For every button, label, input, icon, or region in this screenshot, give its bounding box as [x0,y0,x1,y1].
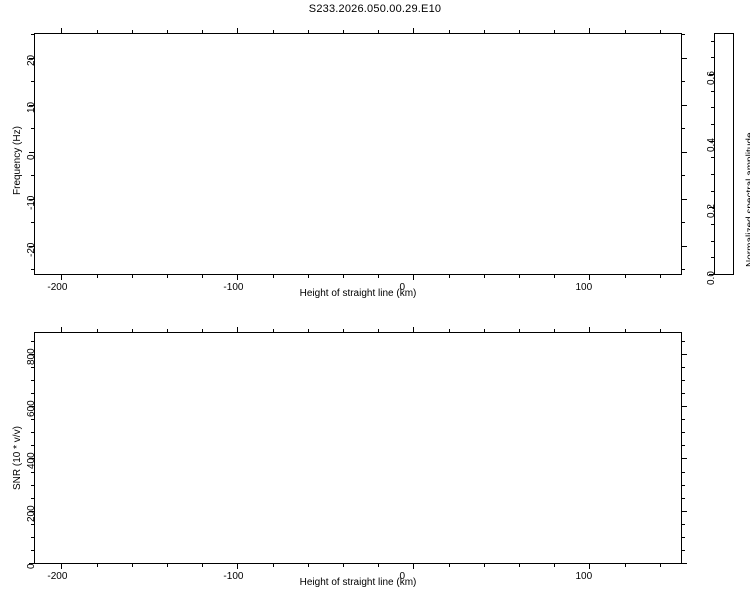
axis-tick [31,222,35,223]
axis-tick [132,563,133,567]
snr-y-tick-label: 0 [26,563,37,569]
axis-tick [625,563,626,567]
axis-tick [61,563,62,569]
axis-tick [681,222,685,223]
snr-y-tick-label: 800 [26,348,37,365]
axis-tick [167,274,168,278]
axis-tick [554,30,555,34]
axis-tick [449,329,450,333]
axis-tick [413,563,414,569]
axis-tick [681,128,685,129]
axis-tick [97,329,98,333]
axis-tick [31,485,35,486]
axis-tick [484,30,485,34]
axis-tick [167,30,168,34]
axis-tick [681,34,685,35]
axis-tick [378,30,379,34]
colorbar-label: Normalized spectral amplitude [745,132,750,267]
axis-tick [31,550,35,551]
spectrogram-y-axis-label: Frequency (Hz) [12,126,23,195]
axis-tick [681,175,685,176]
axis-tick [31,34,35,35]
axis-tick [681,563,687,564]
axis-tick [554,329,555,333]
axis-tick [681,341,685,342]
axis-tick [413,327,414,333]
snr-y-tick-label: 400 [26,453,37,470]
axis-tick [202,563,203,567]
axis-tick [132,329,133,333]
figure-canvas: S233.2026.050.00.29.E10 20100-10-20 -200… [0,0,750,600]
axis-tick [711,41,715,42]
axis-tick [31,498,35,499]
axis-tick [519,30,520,34]
axis-tick [660,30,661,34]
axis-tick [449,274,450,278]
axis-tick [589,274,590,280]
axis-tick [202,30,203,34]
axis-tick [625,30,626,34]
axis-tick [681,472,685,473]
axis-tick [61,274,62,280]
axis-tick [681,511,687,512]
axis-tick [343,274,344,278]
axis-tick [711,224,715,225]
axis-tick [681,105,687,106]
spectrogram-y-tick-label: -10 [26,195,37,209]
axis-tick [681,498,685,499]
axis-tick [31,445,35,446]
axis-tick [97,274,98,278]
axis-tick-label: -200 [47,282,67,293]
axis-tick [413,28,414,34]
axis-tick [237,563,238,569]
axis-tick [681,524,685,525]
axis-tick [378,274,379,278]
axis-tick [681,380,685,381]
axis-tick [681,419,685,420]
axis-tick [711,57,715,58]
axis-tick [31,128,35,129]
axis-tick [660,274,661,278]
colorbar-tick-label: 0.4 [706,138,717,152]
axis-tick [132,274,133,278]
axis-tick [554,274,555,278]
axis-tick [449,30,450,34]
axis-tick [31,472,35,473]
axis-tick [132,30,133,34]
axis-tick [413,274,414,280]
axis-tick [681,432,685,433]
axis-tick [681,199,687,200]
axis-tick [31,341,35,342]
axis-tick [681,58,687,59]
axis-tick [681,269,685,270]
axis-tick [31,380,35,381]
snr-y-tick-label: 600 [26,400,37,417]
axis-tick [308,563,309,567]
spectrogram-y-tick-label: 10 [26,101,37,112]
axis-tick [31,393,35,394]
axis-tick [31,432,35,433]
axis-tick [660,329,661,333]
axis-tick [681,81,685,82]
axis-tick [681,445,685,446]
colorbar-frame [714,33,734,275]
axis-tick [31,419,35,420]
axis-tick-label: 100 [575,571,592,582]
axis-tick [308,30,309,34]
axis-tick [237,327,238,333]
axis-tick [660,563,661,567]
axis-tick [167,329,168,333]
axis-tick [61,28,62,34]
axis-tick [343,329,344,333]
axis-tick [273,30,274,34]
axis-tick [167,563,168,567]
axis-tick [343,563,344,567]
axis-tick [681,354,687,355]
axis-tick [681,367,685,368]
axis-tick [681,152,687,153]
axis-tick [31,367,35,368]
spectrogram-y-tick-label: 20 [26,54,37,65]
axis-tick [711,241,715,242]
axis-tick [61,327,62,333]
axis-tick [519,274,520,278]
snr-y-axis-label: SNR (10 * v/v) [12,426,23,490]
axis-tick [625,329,626,333]
axis-tick [484,274,485,278]
axis-tick [711,174,715,175]
axis-tick [273,329,274,333]
snr-x-axis-label: Height of straight line (km) [234,577,482,588]
axis-tick [29,152,35,153]
axis-tick [484,563,485,567]
axis-tick [681,406,687,407]
spectrogram-axes-frame [34,33,682,275]
axis-tick [308,274,309,278]
snr-axes-frame [34,332,682,564]
axis-tick [519,563,520,567]
axis-tick [237,274,238,280]
axis-tick [449,563,450,567]
snr-y-tick-label: 200 [26,505,37,522]
axis-tick [31,81,35,82]
axis-tick [97,563,98,567]
axis-tick [681,550,685,551]
spectrogram-y-tick-label: 0 [26,154,37,160]
axis-tick [711,124,715,125]
axis-tick [273,563,274,567]
axis-tick [681,537,685,538]
axis-tick [681,458,687,459]
axis-tick [31,524,35,525]
axis-tick [554,563,555,567]
spectrogram-y-tick-label: -20 [26,242,37,256]
axis-tick [711,157,715,158]
axis-tick [711,257,715,258]
axis-tick [589,28,590,34]
axis-tick [31,175,35,176]
colorbar-tick-label: 0.0 [706,271,717,285]
axis-tick [711,107,715,108]
axis-tick [711,91,715,92]
axis-tick [202,329,203,333]
axis-tick [31,537,35,538]
colorbar-tick-label: 0.2 [706,204,717,218]
figure-title: S233.2026.050.00.29.E10 [0,3,750,15]
axis-tick [625,274,626,278]
axis-tick [308,329,309,333]
axis-tick [681,246,687,247]
axis-tick [484,329,485,333]
axis-tick [31,269,35,270]
axis-tick [681,485,685,486]
axis-tick [519,329,520,333]
axis-tick-label: 100 [575,282,592,293]
spectrogram-x-axis-label: Height of straight line (km) [234,288,482,299]
axis-tick [711,191,715,192]
axis-tick [202,274,203,278]
axis-tick [378,329,379,333]
axis-tick [378,563,379,567]
axis-tick [273,274,274,278]
axis-tick [237,28,238,34]
axis-tick [343,30,344,34]
colorbar-tick-label: 0.6 [706,71,717,85]
axis-tick-label: -200 [47,571,67,582]
axis-tick [681,393,685,394]
axis-tick [97,30,98,34]
axis-tick [589,563,590,569]
axis-tick [589,327,590,333]
